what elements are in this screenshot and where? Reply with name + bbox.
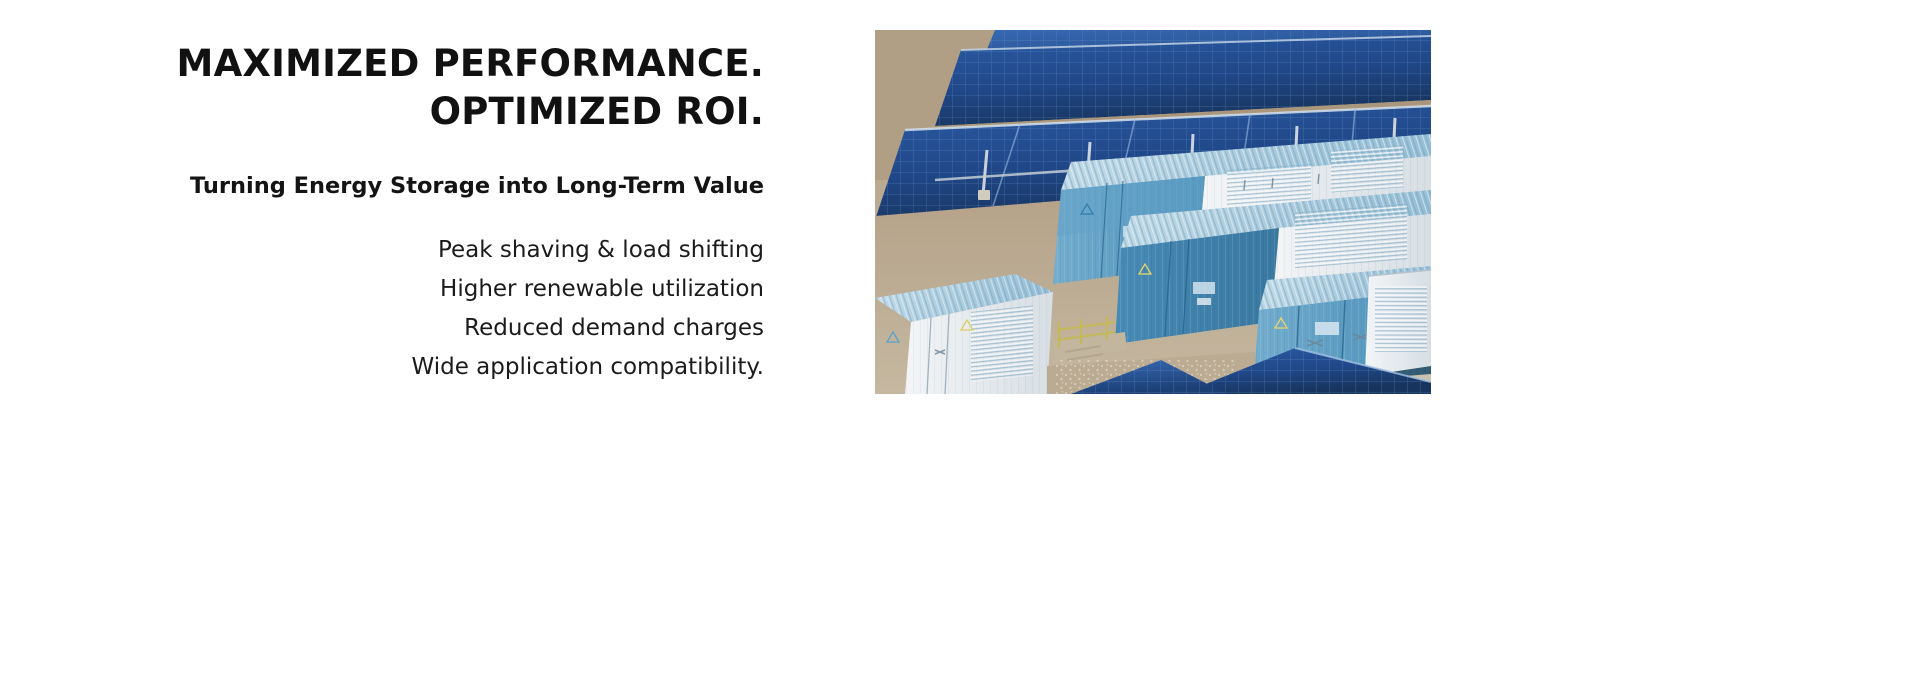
bess-facility-photo	[875, 30, 1431, 394]
benefit-item: Reduced demand charges	[120, 309, 764, 348]
headline-line-2: OPTIMIZED ROI.	[120, 88, 764, 136]
page-title: MAXIMIZED PERFORMANCE. OPTIMIZED ROI.	[120, 40, 764, 136]
benefits-list: Peak shaving & load shifting Higher rene…	[120, 231, 764, 387]
benefit-item: Peak shaving & load shifting	[120, 231, 764, 270]
hero-section: MAXIMIZED PERFORMANCE. OPTIMIZED ROI. Tu…	[0, 0, 1920, 689]
benefit-item: Higher renewable utilization	[120, 270, 764, 309]
bess-facility-illustration	[875, 30, 1431, 394]
hero-copy-block: MAXIMIZED PERFORMANCE. OPTIMIZED ROI. Tu…	[120, 40, 764, 387]
hero-subheadline: Turning Energy Storage into Long-Term Va…	[120, 171, 764, 201]
headline-line-1: MAXIMIZED PERFORMANCE.	[120, 40, 764, 88]
benefit-item: Wide application compatibility.	[120, 348, 764, 387]
